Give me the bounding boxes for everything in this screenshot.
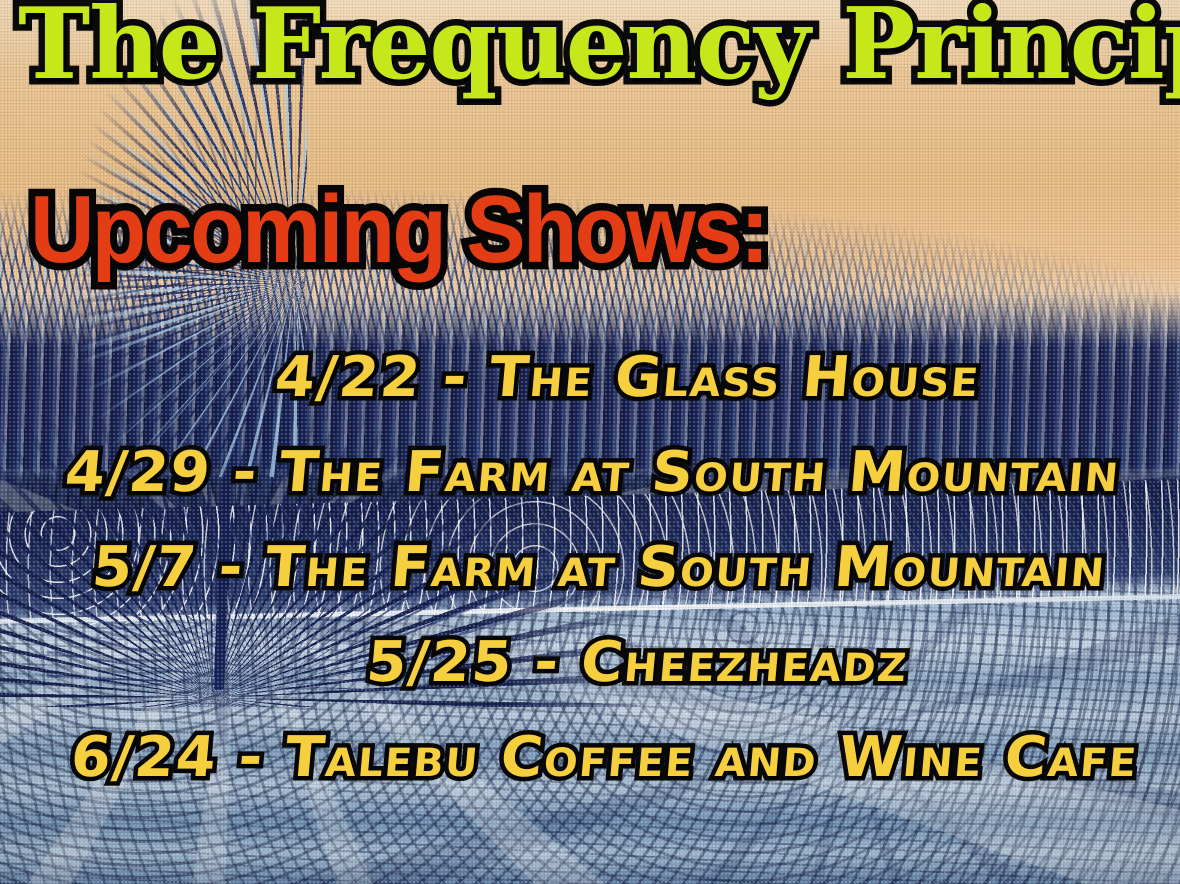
show-list-item: 5/7 - The Farm at South Mountain: [0, 520, 1110, 615]
upcoming-shows-heading: Upcoming Shows:: [30, 182, 767, 278]
show-list-item: 6/24 - Talebu Coffee and Wine Cafe: [0, 710, 1142, 805]
show-list-item: 5/25 - Cheezheadz: [0, 615, 912, 710]
show-flyer-poster: The Frequency Principle Upcoming Shows: …: [0, 0, 1180, 884]
show-list-item: 4/22 - The Glass House: [0, 330, 984, 425]
show-date-list: 4/22 - The Glass House 4/29 - The Farm a…: [0, 330, 1158, 805]
poster-text-layer: The Frequency Principle Upcoming Shows: …: [0, 0, 1180, 884]
show-list-item: 4/29 - The Farm at South Mountain: [0, 425, 1124, 520]
band-name-title: The Frequency Principle: [18, 0, 1157, 97]
